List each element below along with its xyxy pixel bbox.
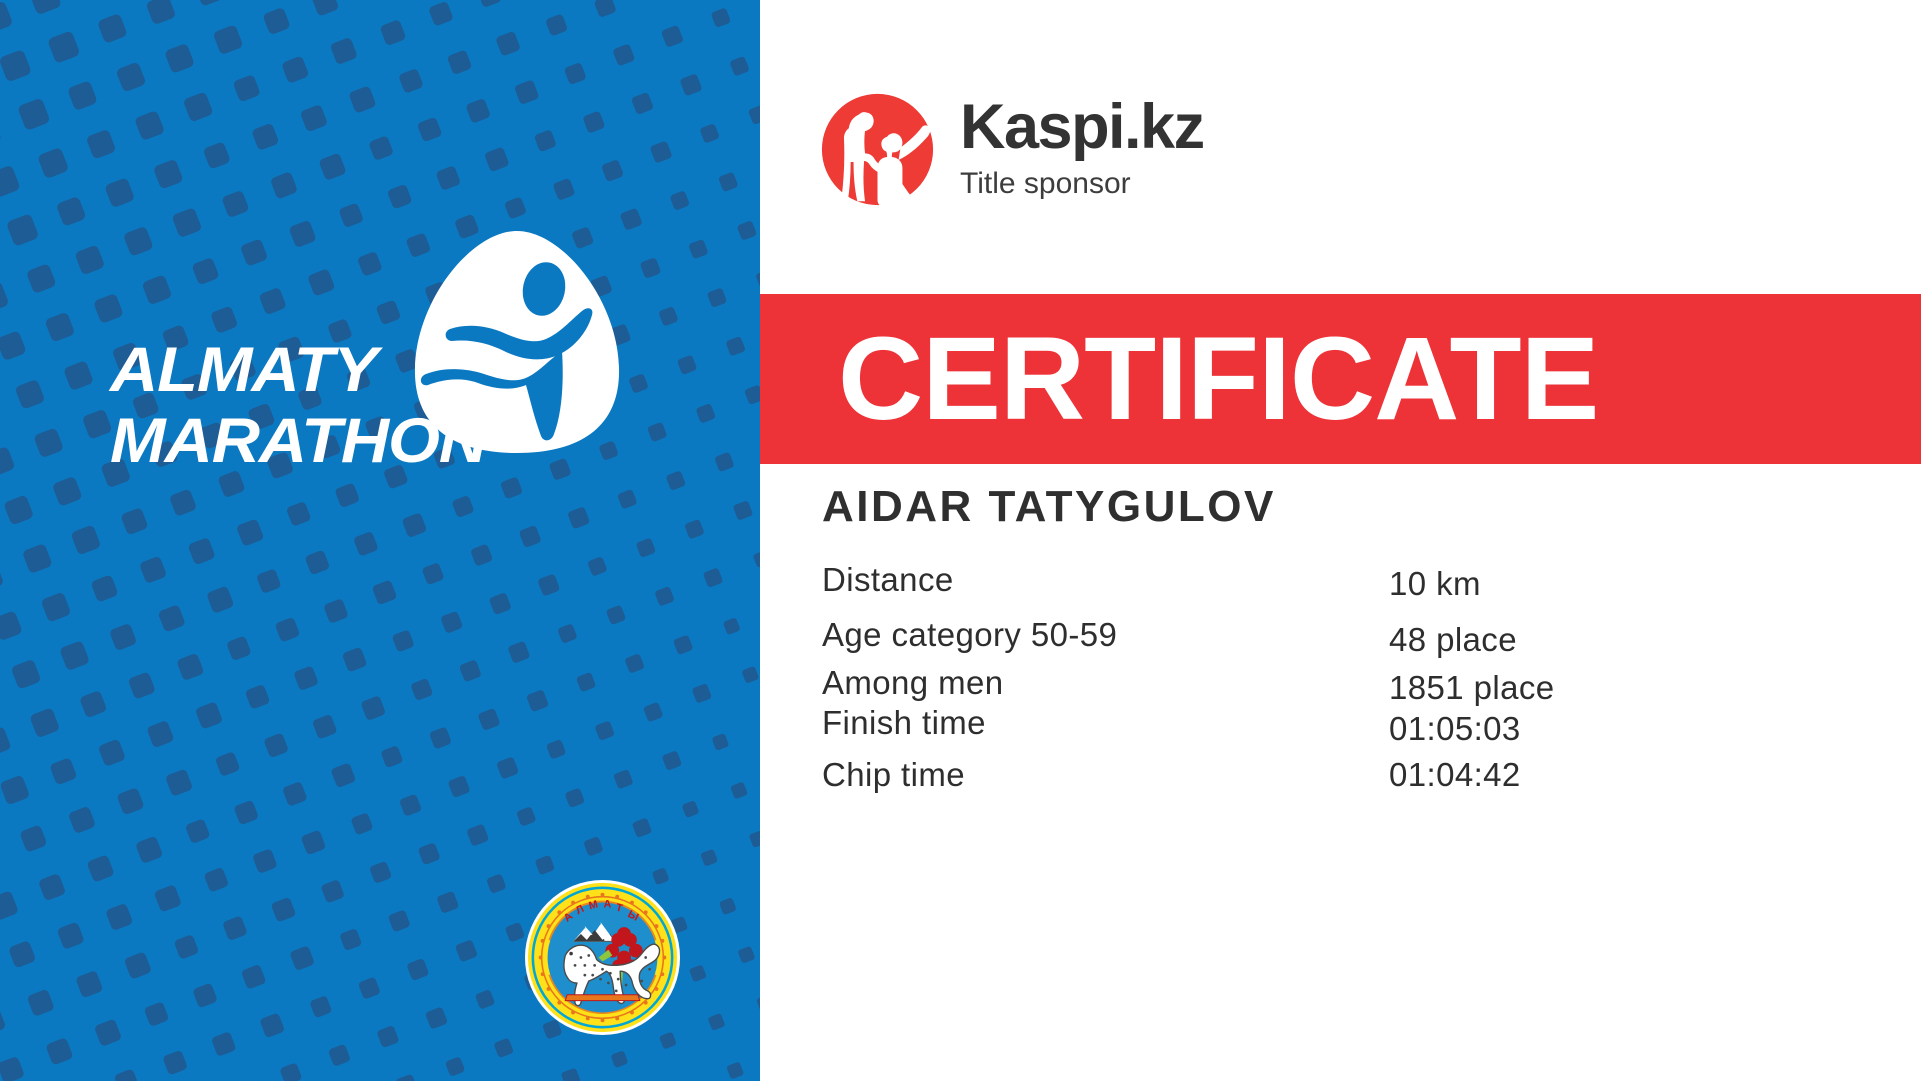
sponsor-role: Title sponsor: [960, 169, 1204, 199]
almaty-marathon-logo: ALMATY MARATHON: [110, 232, 610, 502]
result-value: 01:04:42: [1389, 756, 1521, 794]
certificate-banner: CERTIFICATE: [760, 294, 1921, 464]
sponsor-text-block: Kaspi.kz Title sponsor: [960, 92, 1204, 199]
kaspi-family-icon: [820, 92, 935, 207]
certificate-title: CERTIFICATE: [838, 320, 1598, 438]
result-row: Among men1851 place: [822, 664, 1822, 708]
result-row: Finish time01:05:03: [822, 708, 1822, 756]
title-sponsor-block: Kaspi.kz Title sponsor: [820, 92, 1204, 207]
almaty-city-emblem-icon: А Л М А Т Ы: [524, 879, 681, 1036]
logo-line-almaty: ALMATY: [110, 340, 608, 401]
result-row: Chip time01:04:42: [822, 756, 1822, 807]
result-label: Chip time: [822, 756, 1389, 794]
result-row: Age category 50-5948 place: [822, 616, 1822, 664]
result-value: 48 place: [1389, 621, 1517, 659]
left-brand-panel: ALMATY MARATHON: [0, 0, 760, 1081]
result-value: 1851 place: [1389, 669, 1554, 707]
athlete-name: AIDAR TATYGULOV: [822, 482, 1276, 532]
certificate-page: ALMATY MARATHON: [0, 0, 1921, 1081]
result-label: Finish time: [822, 704, 1389, 742]
result-label: Among men: [822, 664, 1389, 702]
svg-text:А: А: [603, 898, 611, 910]
logo-line-marathon: MARATHON: [110, 411, 608, 472]
sponsor-name: Kaspi.kz: [960, 96, 1204, 159]
result-label: Distance: [822, 561, 1389, 599]
result-label: Age category 50-59: [822, 616, 1389, 654]
result-row: Distance10 km: [822, 565, 1822, 616]
results-table: Distance10 kmAge category 50-5948 placeA…: [822, 565, 1822, 807]
right-content-panel: Kaspi.kz Title sponsor CERTIFICATE AIDAR…: [760, 0, 1921, 1081]
result-value: 01:05:03: [1389, 710, 1521, 748]
result-value: 10 km: [1389, 565, 1481, 603]
almaty-marathon-wordmark: ALMATY MARATHON: [110, 340, 580, 472]
